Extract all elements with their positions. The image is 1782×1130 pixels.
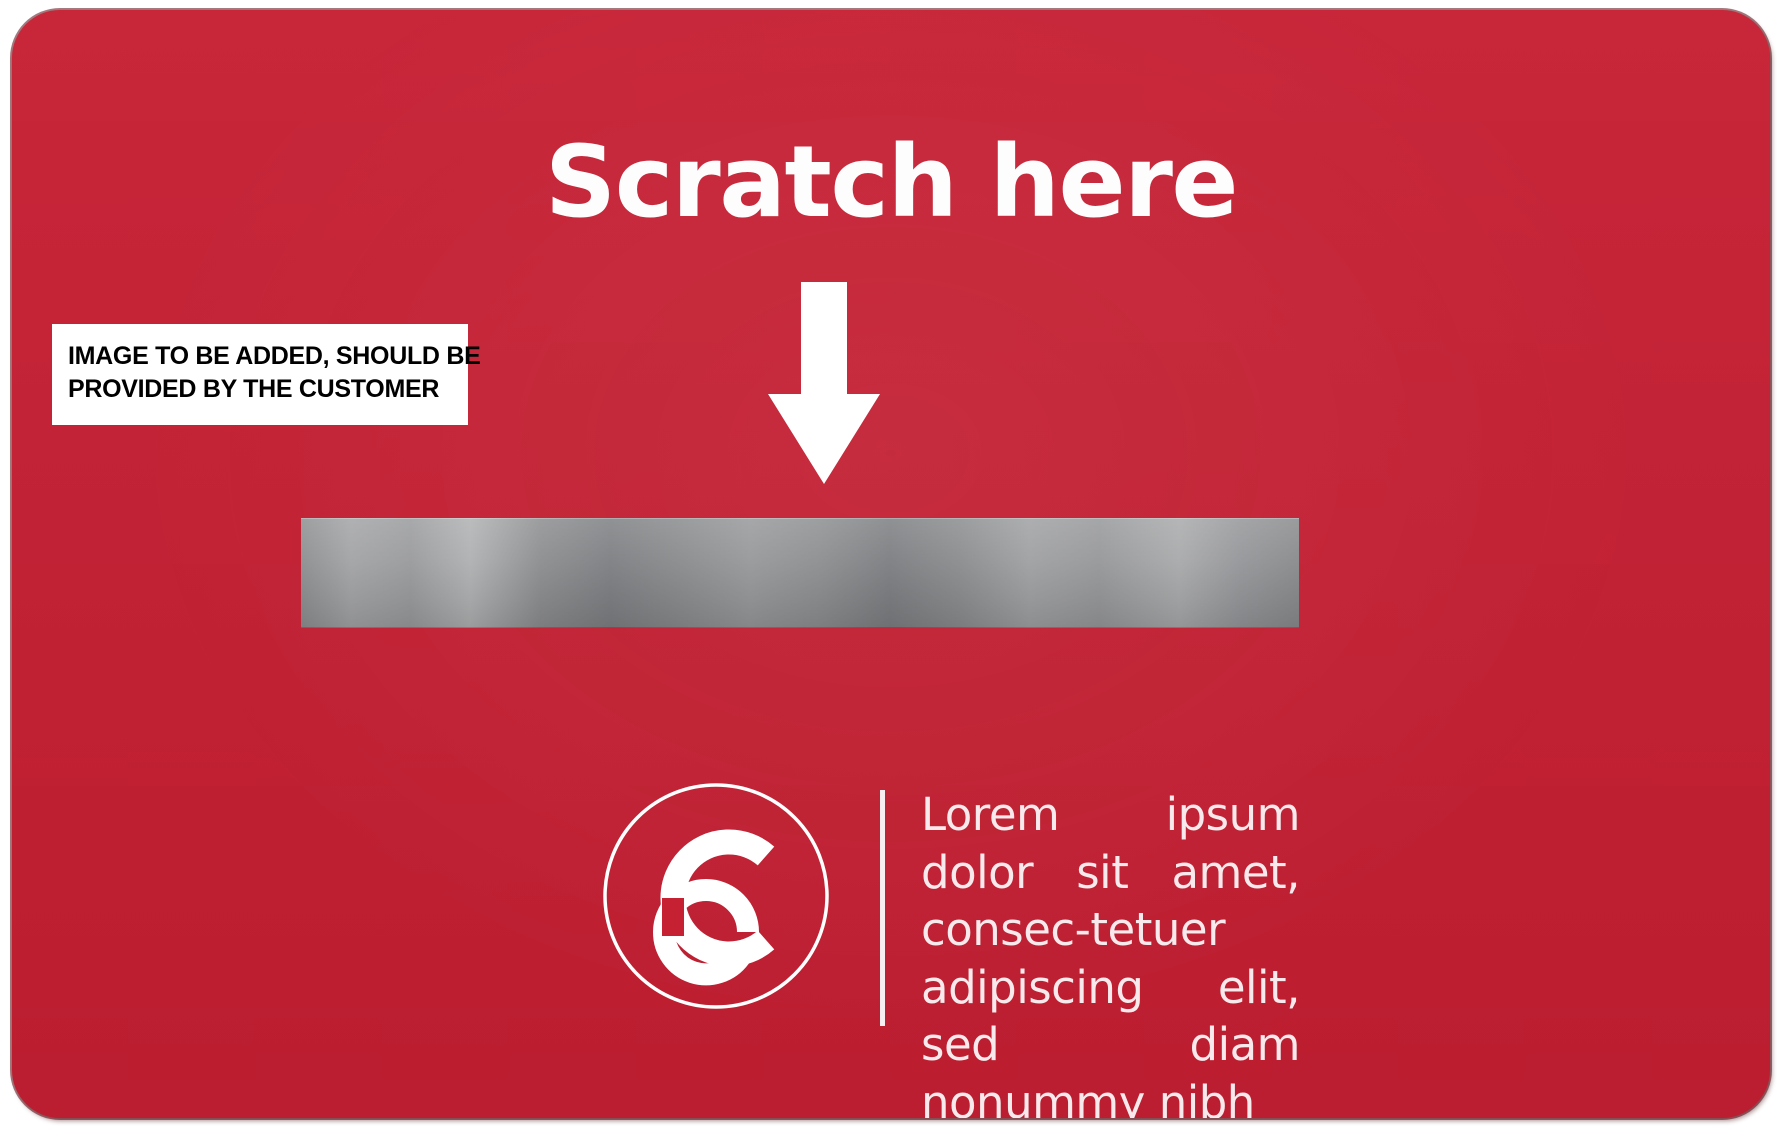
page-title: Scratch here bbox=[12, 133, 1770, 232]
image-placeholder-note: IMAGE TO BE ADDED, SHOULD BE PROVIDED BY… bbox=[52, 324, 468, 425]
note-line-1: IMAGE TO BE ADDED, SHOULD BE bbox=[68, 340, 454, 373]
canvas: Scratch here Lorem ipsum dolor sit amet,… bbox=[0, 0, 1782, 1130]
scratch-card: Scratch here Lorem ipsum dolor sit amet,… bbox=[12, 10, 1770, 1118]
brand-monogram-ce-icon bbox=[600, 780, 832, 1012]
note-line-2: PROVIDED BY THE CUSTOMER bbox=[68, 373, 454, 406]
footer-body-text: Lorem ipsum dolor sit amet, consec-tetue… bbox=[921, 786, 1300, 1118]
arrow-down-icon bbox=[768, 282, 880, 484]
footer-divider bbox=[880, 790, 885, 1026]
card-footer: Lorem ipsum dolor sit amet, consec-tetue… bbox=[600, 778, 1300, 1046]
scratch-off-panel[interactable] bbox=[301, 518, 1299, 628]
